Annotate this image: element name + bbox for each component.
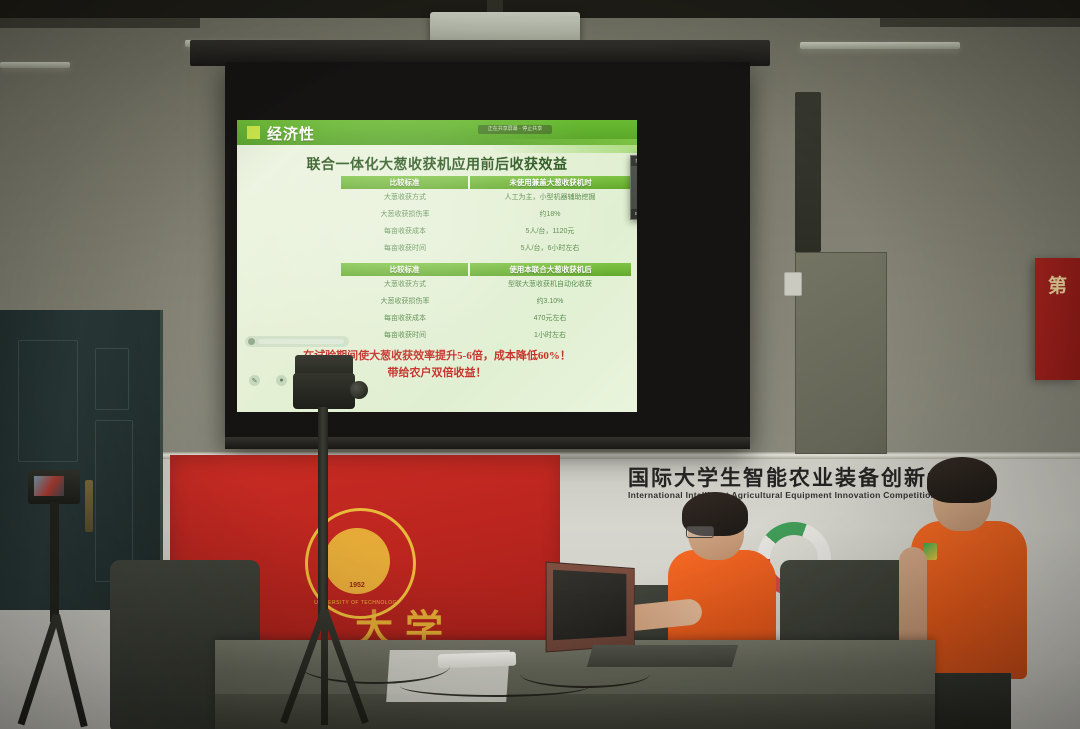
slide-header-bar: 经济性 正在共享屏幕 · 停止共享	[237, 120, 637, 145]
video-call-status: BA3008区 视频会议	[631, 209, 637, 219]
cell-value: 约3.10%	[469, 293, 631, 310]
cell-criteria: 大葱收获损伤率	[341, 206, 469, 223]
tripod-leg	[321, 609, 369, 724]
scene-root: 第 经济性 正在共享屏幕 · 停止共享 联合一体化大葱收获机应用前后收获效益 比…	[0, 0, 1080, 729]
cell-value: 约18%	[469, 206, 631, 223]
person-legs	[927, 673, 1011, 729]
presenter-laptop-screen[interactable]	[553, 570, 626, 640]
th-criteria-before: 比较标准	[341, 176, 470, 189]
table-body-before: 大葱收获方式 人工为主，小型机器辅助挖掘 大葱收获损伤率 约18% 每亩收获成本…	[341, 189, 631, 257]
tripod-leg	[18, 614, 60, 726]
screen-share-badge[interactable]: 正在共享屏幕 · 停止共享	[478, 125, 552, 134]
cable	[400, 675, 590, 697]
table-row: 大葱收获损伤率 约18%	[341, 206, 631, 223]
ceiling-beam-right	[880, 18, 1080, 27]
vertical-banner-text: 第	[1035, 258, 1080, 302]
cell-value: 5人/台，6小时左右	[469, 240, 631, 257]
search-icon	[248, 338, 255, 345]
cell-value: 型联大葱收获机自动化收获	[469, 276, 631, 293]
cell-value: 5人/台，1120元	[469, 223, 631, 240]
tripod-center-column	[318, 407, 328, 622]
vertical-red-banner: 第	[1035, 258, 1080, 380]
table-row: 每亩收获时间 1小时左右	[341, 327, 631, 344]
cell-value: 人工为主，小型机器辅助挖掘	[469, 189, 631, 206]
th-criteria-after: 比较标准	[341, 263, 470, 276]
cell-criteria: 每亩收获成本	[341, 310, 469, 327]
person-hair	[927, 457, 997, 503]
table-row: 每亩收获成本 470元左右	[341, 310, 631, 327]
video-call-overlay[interactable]: 会议共享 84100区 邀请他人 会议 BA3008区 视频会议	[630, 155, 637, 220]
camera-tripod[interactable]	[255, 355, 375, 729]
wall-speaker	[795, 92, 821, 252]
table-row: 每亩收获时间 5人/台，6小时左右	[341, 240, 631, 257]
camera-lcd-screen	[34, 476, 64, 496]
search-input[interactable]	[258, 339, 344, 344]
camera-tripod-left[interactable]	[10, 470, 100, 729]
table-row: 大葱收获方式 人工为主，小型机器辅助挖掘	[341, 189, 631, 206]
door-panel-right	[95, 348, 129, 410]
door-panel-lower	[95, 420, 133, 582]
video-call-title: 会议共享 84100区 邀请他人	[631, 156, 637, 166]
ceiling-light-right	[800, 42, 960, 49]
tripod-leg	[53, 614, 88, 727]
slide-title: 联合一体化大葱收获机应用前后收获效益	[237, 154, 637, 174]
ceiling-beam-left	[0, 18, 200, 28]
th-value-before: 未使用兼盖大葱收获机时	[470, 176, 631, 189]
wall-switch-plate[interactable]	[784, 272, 802, 296]
presenter-laptop-keyboard[interactable]	[587, 645, 738, 667]
comparison-table: 比较标准 未使用兼盖大葱收获机时 大葱收获方式 人工为主，小型机器辅助挖掘 大葱…	[341, 176, 631, 344]
door-panel-upper	[18, 340, 78, 462]
cell-criteria: 大葱收获损伤率	[341, 293, 469, 310]
table-body-after: 大葱收获方式 型联大葱收获机自动化收获 大葱收获损伤率 约3.10% 每亩收获成…	[341, 276, 631, 344]
table-row: 每亩收获成本 5人/台，1120元	[341, 223, 631, 240]
cell-criteria: 大葱收获方式	[341, 189, 469, 206]
cell-criteria: 大葱收获方式	[341, 276, 469, 293]
glasses-icon	[686, 526, 714, 538]
table-row: 大葱收获方式 型联大葱收获机自动化收获	[341, 276, 631, 293]
cell-criteria: 每亩收获时间	[341, 240, 469, 257]
table-header-after: 比较标准 使用本联合大葱收获机后	[341, 263, 631, 276]
tripod-center-column	[50, 502, 59, 622]
slide-header-title: 经济性	[267, 123, 315, 144]
camera-lens-icon	[350, 381, 368, 399]
cell-value: 1小时左右	[469, 327, 631, 344]
table-header-before: 比较标准 未使用兼盖大葱收获机时	[341, 176, 631, 189]
th-value-after: 使用本联合大葱收获机后	[470, 263, 631, 276]
ceiling-light-far-left	[0, 62, 70, 68]
cell-criteria: 每亩收获成本	[341, 223, 469, 240]
table-row: 大葱收获损伤率 约3.10%	[341, 293, 631, 310]
presentation-search-bar[interactable]	[245, 336, 349, 347]
wall-cabinet[interactable]	[795, 252, 887, 454]
camera-body	[293, 373, 355, 409]
cell-value: 470元左右	[469, 310, 631, 327]
cell-criteria: 每亩收获时间	[341, 327, 469, 344]
tripod-leg	[321, 610, 328, 725]
slide-header-square-icon	[247, 126, 260, 139]
